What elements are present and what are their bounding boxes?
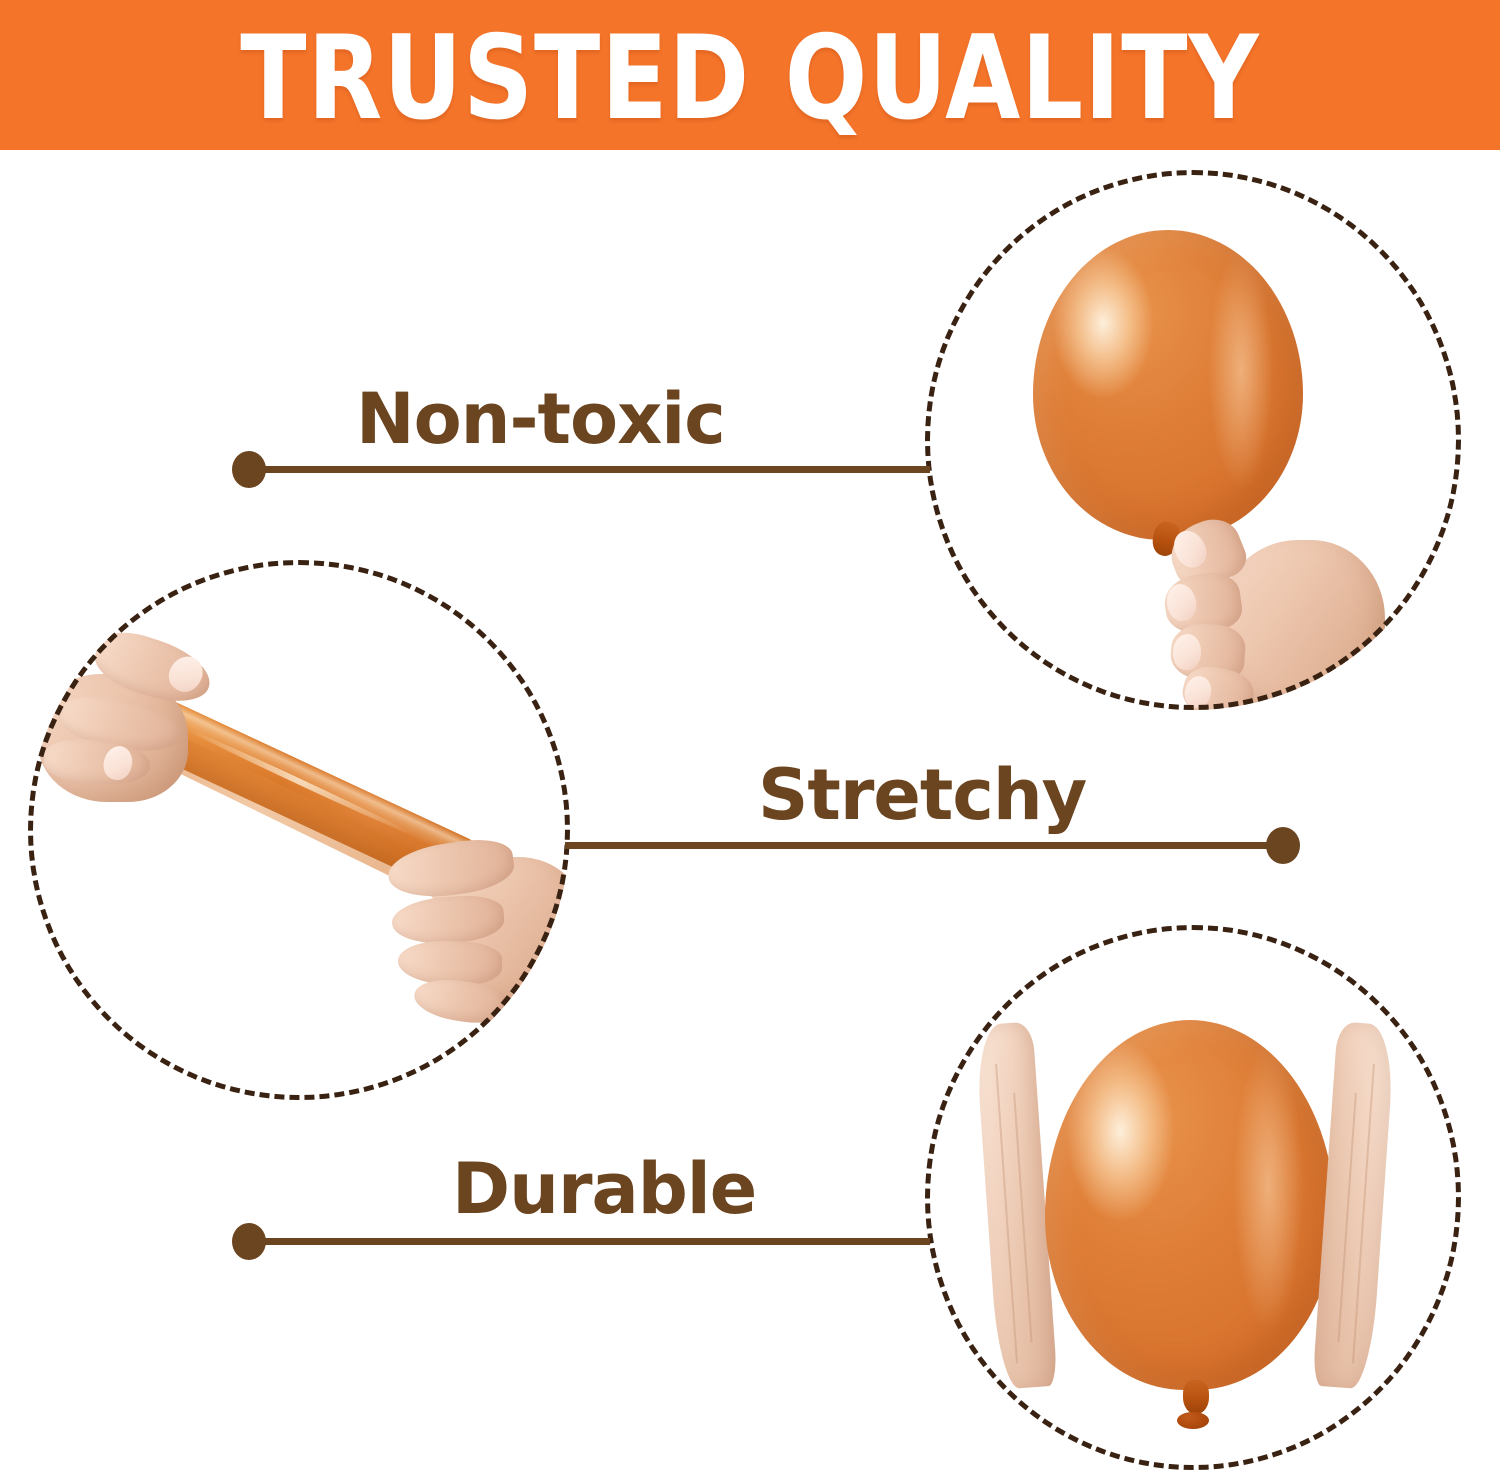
feature-image-stretchy	[28, 560, 570, 1100]
feature-label-non-toxic: Non-toxic	[356, 378, 725, 460]
connector-dot-non-toxic	[232, 451, 266, 488]
dashed-circle-outline	[28, 560, 570, 1100]
feature-label-durable: Durable	[452, 1148, 756, 1230]
feature-image-durable	[925, 925, 1461, 1470]
feature-label-stretchy: Stretchy	[758, 754, 1086, 836]
connector-line-non-toxic	[252, 466, 930, 473]
connector-line-durable	[252, 1238, 930, 1245]
header-banner: TRUSTED QUALITY	[0, 0, 1500, 150]
feature-image-non-toxic	[925, 170, 1461, 710]
connector-dot-stretchy	[1266, 827, 1300, 864]
page-title: TRUSTED QUALITY	[75, 0, 1425, 150]
connector-line-stretchy	[565, 842, 1287, 849]
dashed-circle-outline	[925, 925, 1461, 1470]
connector-dot-durable	[232, 1223, 266, 1260]
dashed-circle-outline	[925, 170, 1461, 710]
